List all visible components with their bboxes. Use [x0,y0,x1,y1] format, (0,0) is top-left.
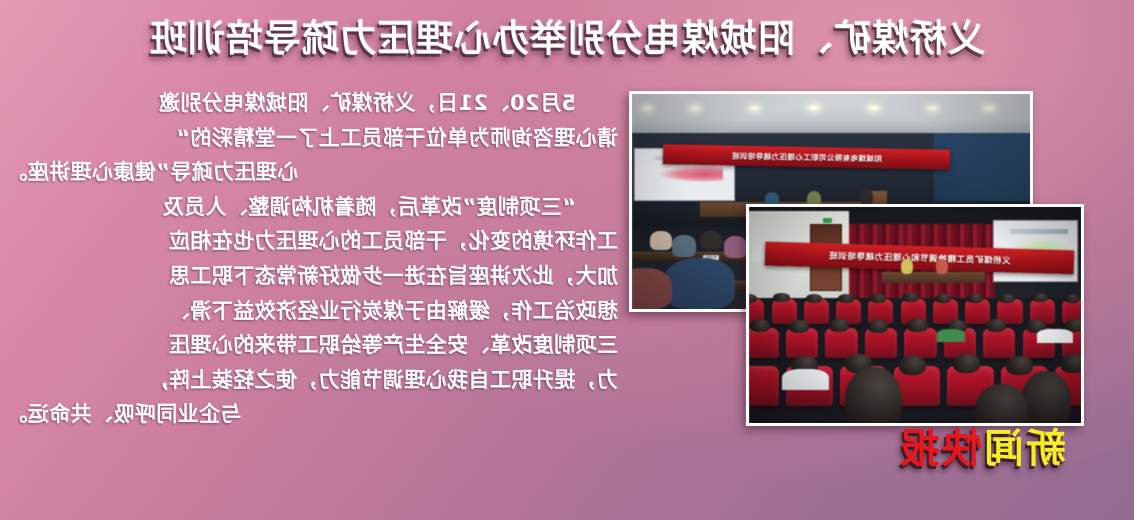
white-shirt-lanyard [782,369,829,390]
article-line-4: “三项制度”改革后，随着机构调整、人员及 [6,190,618,225]
watermark-part-2: 快报 [898,426,982,472]
photo-auditorium: 义桥煤矿员工精神调节和心理压力疏导培训班 [746,204,1084,426]
article-body: 5月20、21日，义桥煤矿、阳城煤电分别邀 请心理咨询师为单位干部员工上了一堂精… [6,86,618,432]
article-line-8: 三项制度改革、安全生产等给职工带来的心理压 [6,328,618,363]
watermark-logo: 新闻快报 [898,416,1066,474]
article-line-10: 与企业同呼吸、共命运。 [6,397,618,432]
presenter-2 [901,259,913,274]
seat-row-2 [746,319,1084,358]
head-table-bottom [882,272,985,283]
green-shirt [937,329,966,341]
foreground-head-right [845,367,901,426]
page-title: 义桥煤矿、阳城煤电分别举办心理压力疏导培训班 [0,8,1134,62]
exit-sign [823,218,832,223]
article-line-2: 请心理咨询师为单位干部员工上了一堂精彩的“ [6,121,618,156]
poster-canvas: 义桥煤矿、阳城煤电分别举办心理压力疏导培训班 [0,0,1134,520]
event-banner-top-text: 阳城煤电有限公司职工心理压力疏导培训班 [732,150,882,164]
white-shirt [1037,329,1073,342]
scene-auditorium: 义桥煤矿员工精神调节和心理压力疏导培训班 [749,207,1081,423]
article-line-7: 想政治工作，缓解由于煤炭行业经济效益下滑、 [6,294,618,329]
presenter-1 [936,259,948,274]
article-line-3: 心理压力疏导”健康心理讲座。 [6,155,618,190]
article-line-9: 力，提升职工自我心理调节能力，使之轻装上阵, [6,363,618,398]
mirrored-content-layer: 义桥煤矿、阳城煤电分别举办心理压力疏导培训班 [0,0,1134,520]
article-line-6: 加大，此次讲座旨在进一步做好新常态下职工思 [6,259,618,294]
ceiling [632,94,1030,137]
article-line-5: 工作环境的变化，干部员工的心理压力也在相应 [6,224,618,259]
watermark-part-1: 新闻 [982,426,1066,472]
article-line-1: 5月20、21日，义桥煤矿、阳城煤电分别邀 [6,86,618,121]
event-banner-bottom-text: 义桥煤矿员工精神调节和心理压力疏导培训班 [829,249,1011,266]
